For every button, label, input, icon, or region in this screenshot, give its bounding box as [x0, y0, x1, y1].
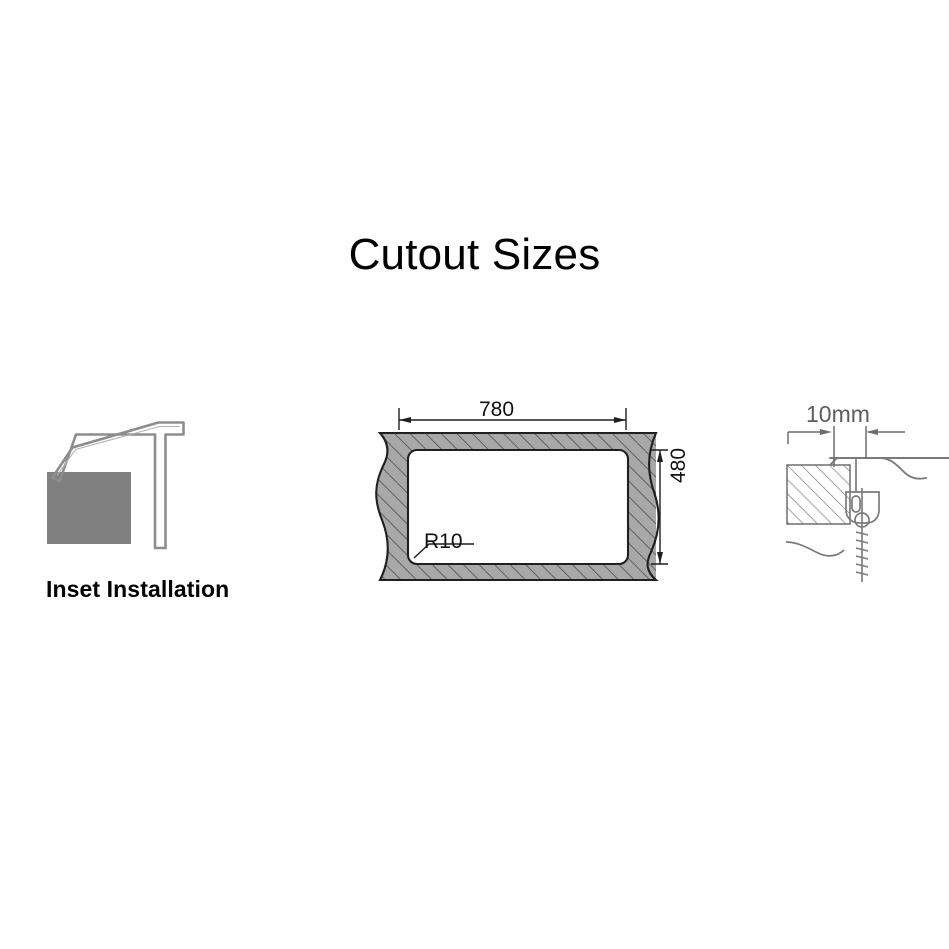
dimension-label-height: 480: [668, 448, 689, 483]
figure-cutout-dimensions: 780 480 R10: [368, 392, 668, 602]
figure-inset-installation: Inset Installation: [28, 405, 298, 625]
cutout-plan-icon: [368, 392, 668, 602]
inset-block-shape: [47, 472, 131, 544]
dimension-overhang-10mm: [788, 426, 905, 467]
dimension-label-overhang: 10mm: [806, 403, 870, 426]
figure-edge-detail: 10mm: [770, 392, 949, 582]
diagram-page: Cutout Sizes Inset Installation: [0, 0, 949, 949]
page-title: Cutout Sizes: [0, 233, 949, 277]
dimension-label-radius: R10: [424, 531, 463, 552]
dimension-label-width: 780: [479, 399, 514, 420]
inset-installation-caption: Inset Installation: [46, 576, 326, 604]
worktop-block-shape: [787, 465, 850, 524]
underside-tail-shape: [786, 542, 844, 556]
screw-shaft-shape: [856, 488, 868, 582]
